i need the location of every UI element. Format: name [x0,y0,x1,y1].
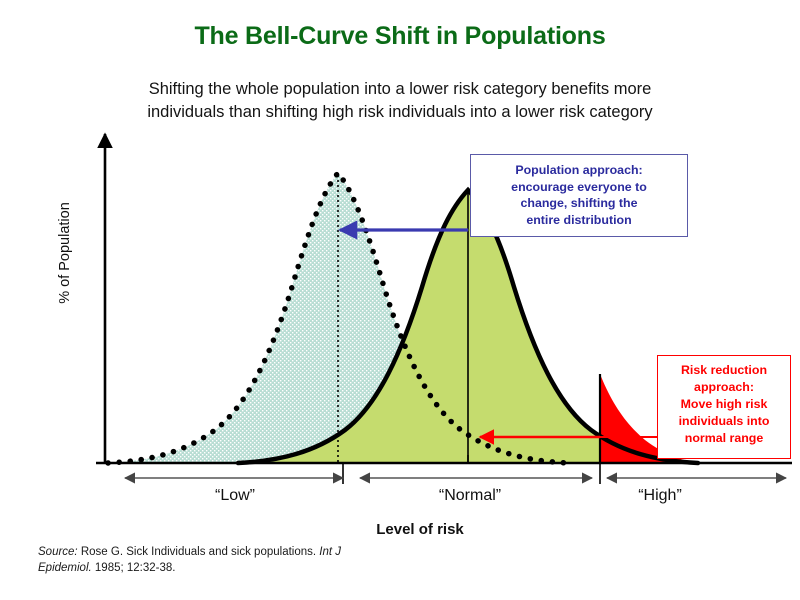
risk-callout-line-5: normal range [658,430,790,447]
category-label-high: “High” [600,487,720,505]
population-callout-line-1: Population approach: [471,162,687,179]
category-label-low: “Low” [175,487,295,505]
population-callout-line-4: entire distribution [471,212,687,229]
y-axis-label: % of Population [57,173,73,333]
population-callout-line-3: change, shifting the [471,195,687,212]
source-prefix: Source: [38,546,78,558]
source-text-2: 1985; 12:32-38. [95,562,176,574]
bell-curve-chart [0,0,800,600]
risk-callout-line-3: Move high risk [658,396,790,413]
risk-reduction-callout: Risk reduction approach: Move high risk … [657,355,791,459]
population-callout-line-2: encourage everyone to [471,179,687,196]
risk-callout-line-2: approach: [658,379,790,396]
source-text-1: Rose G. Sick Individuals and sick popula… [81,546,316,558]
risk-callout-line-4: individuals into [658,413,790,430]
source-citation: Source: Rose G. Sick Individuals and sic… [38,545,368,576]
category-label-normal: “Normal” [410,487,530,505]
slide-canvas: The Bell-Curve Shift in Populations Shif… [0,0,800,600]
x-axis-label: Level of risk [180,521,660,538]
population-approach-callout: Population approach: encourage everyone … [470,154,688,237]
risk-callout-line-1: Risk reduction [658,362,790,379]
